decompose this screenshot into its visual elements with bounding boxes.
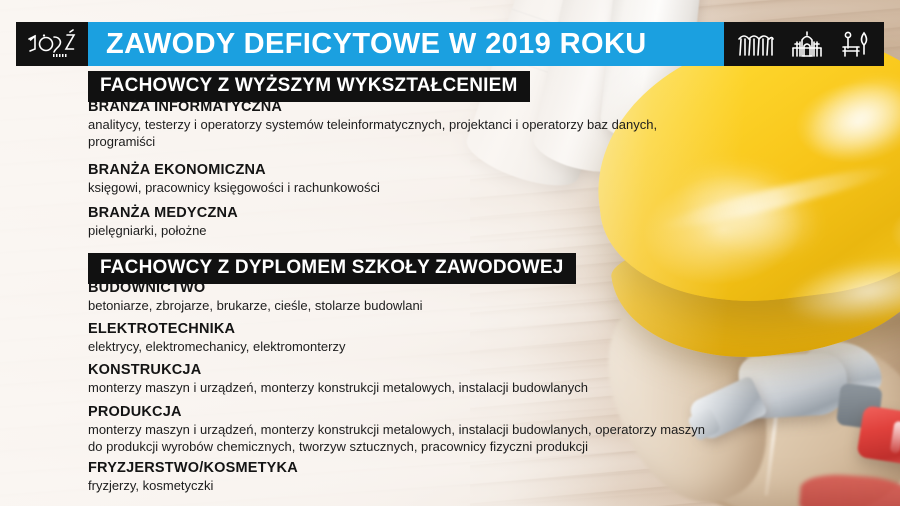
group-title: BRANŻA MEDYCZNA <box>88 205 238 221</box>
group-description: księgowi, pracownicy księgowości i rachu… <box>88 179 380 196</box>
poster-content: ZAWODY DEFICYTOWE W 2019 ROKU <box>0 0 900 506</box>
group-title: KONSTRUKCJA <box>88 362 588 378</box>
page-title: ZAWODY DEFICYTOWE W 2019 ROKU <box>106 30 647 59</box>
group-description: analitycy, testerzy i operatorzy systemó… <box>88 116 708 150</box>
group-konstrukcja: KONSTRUKCJA monterzy maszyn i urządzeń, … <box>88 362 588 396</box>
group-branza-informatyczna: BRANŻA INFORMATYCZNA analitycy, testerzy… <box>88 99 708 150</box>
group-branza-ekonomiczna: BRANŻA EKONOMICZNA księgowi, pracownicy … <box>88 162 380 196</box>
group-description: monterzy maszyn i urządzeń, monterzy kon… <box>88 421 708 455</box>
park-bench-tree-icon <box>839 30 873 58</box>
arcade-colonnade-icon <box>736 30 776 58</box>
group-title: BRANŻA INFORMATYCZNA <box>88 99 708 115</box>
title-bar: ZAWODY DEFICYTOWE W 2019 ROKU <box>16 22 884 66</box>
group-title: PRODUKCJA <box>88 404 708 420</box>
poster-title-banner: ZAWODY DEFICYTOWE W 2019 ROKU <box>88 22 724 66</box>
group-title: BRANŻA EKONOMICZNA <box>88 162 380 178</box>
section-heading-higher-education: FACHOWCY Z WYŻSZYM WYKSZTAŁCENIEM <box>88 71 530 102</box>
group-title: BUDOWNICTWO <box>88 280 423 296</box>
group-title: FRYZJERSTWO/KOSMETYKA <box>88 460 298 476</box>
group-budownictwo: BUDOWNICTWO betoniarze, zbrojarze, bruka… <box>88 280 423 314</box>
landmark-building-icon <box>787 30 827 58</box>
group-produkcja: PRODUKCJA monterzy maszyn i urządzeń, mo… <box>88 404 708 455</box>
group-description: fryzjerzy, kosmetyczki <box>88 477 298 494</box>
landmark-icons-group <box>724 22 884 66</box>
group-description: monterzy maszyn i urządzeń, monterzy kon… <box>88 379 588 396</box>
group-description: elektrycy, elektromechanicy, elektromont… <box>88 338 345 355</box>
lodz-logo <box>16 22 88 66</box>
infographic-poster: ZAWODY DEFICYTOWE W 2019 ROKU <box>0 0 900 506</box>
group-fryzjerstwo-kosmetyka: FRYZJERSTWO/KOSMETYKA fryzjerzy, kosmety… <box>88 460 298 494</box>
lodz-logo-icon <box>24 29 80 59</box>
group-description: betoniarze, zbrojarze, brukarze, cieśle,… <box>88 297 423 314</box>
group-title: ELEKTROTECHNIKA <box>88 321 345 337</box>
group-branza-medyczna: BRANŻA MEDYCZNA pielęgniarki, położne <box>88 205 238 239</box>
group-description: pielęgniarki, położne <box>88 222 238 239</box>
group-elektrotechnika: ELEKTROTECHNIKA elektrycy, elektromechan… <box>88 321 345 355</box>
